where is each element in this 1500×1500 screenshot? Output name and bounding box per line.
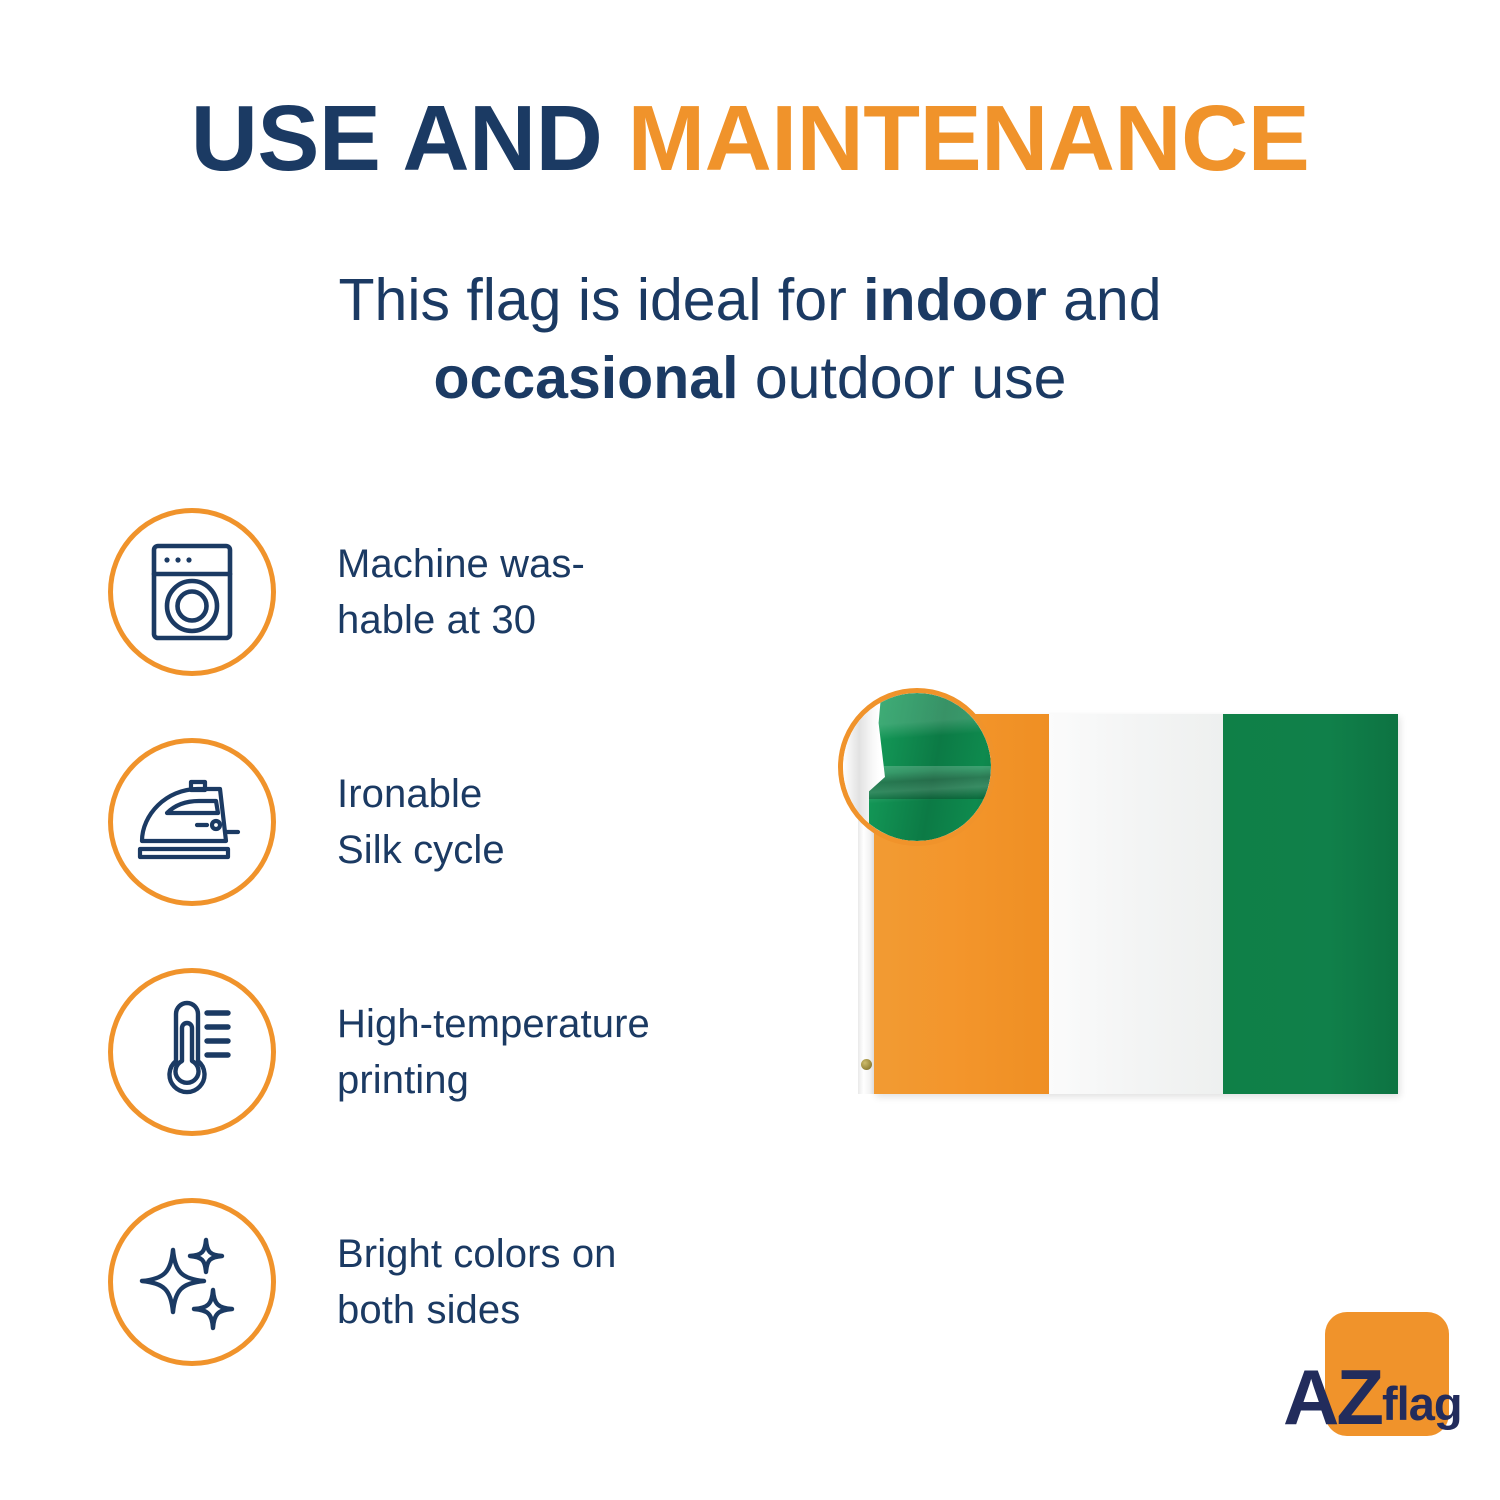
iron-icon xyxy=(136,779,248,865)
subtitle-line-1: This flag is ideal for indoor and xyxy=(0,262,1500,340)
page-title-part-one: USE AND xyxy=(191,86,628,190)
page-subtitle: This flag is ideal for indoor and occasi… xyxy=(0,262,1500,418)
brand-logo-text[interactable]: AZflag xyxy=(1283,1352,1462,1443)
flag-band-green xyxy=(1223,714,1398,1094)
feature-label: High-temperature printing xyxy=(337,996,650,1108)
feature-icon-badge-iron xyxy=(108,738,276,906)
subtitle-text-tail: outdoor use xyxy=(738,345,1066,411)
page-title: USE AND MAINTENANCE xyxy=(0,92,1500,185)
brand-logo-az: AZ xyxy=(1283,1353,1381,1441)
subtitle-emphasis-indoor: indoor xyxy=(863,267,1047,333)
subtitle-emphasis-occasional: occasional xyxy=(434,345,739,411)
magnifier-fabric-green xyxy=(869,693,991,841)
list-item: Machine was- hable at 30 xyxy=(108,508,808,738)
subtitle-text-lead: This flag is ideal for xyxy=(338,267,863,333)
thermometer-icon xyxy=(150,998,234,1106)
subtitle-text-and: and xyxy=(1047,267,1162,333)
list-item: Bright colors on both sides xyxy=(108,1198,808,1428)
feature-icon-badge-washing xyxy=(108,508,276,676)
brand-logo-word: flag xyxy=(1382,1377,1462,1430)
header: USE AND MAINTENANCE xyxy=(0,92,1500,185)
washing-machine-icon xyxy=(146,540,238,644)
list-item: High-temperature printing xyxy=(108,968,808,1198)
feature-label: Ironable Silk cycle xyxy=(337,766,505,878)
infographic-page: USE AND MAINTENANCE This flag is ideal f… xyxy=(0,0,1500,1500)
magnifier-content xyxy=(843,693,991,841)
subtitle-line-2: occasional outdoor use xyxy=(0,340,1500,418)
flag-band-white xyxy=(1049,714,1224,1094)
list-item: Ironable Silk cycle xyxy=(108,738,808,968)
page-title-part-two: MAINTENANCE xyxy=(628,86,1310,190)
feature-label: Machine was- hable at 30 xyxy=(337,536,585,648)
sparkles-icon xyxy=(138,1228,246,1336)
feature-label: Bright colors on both sides xyxy=(337,1226,617,1338)
feature-icon-badge-sparkles xyxy=(108,1198,276,1366)
feature-icon-badge-thermometer xyxy=(108,968,276,1136)
flag-grommet xyxy=(861,1059,872,1070)
fabric-detail-magnifier xyxy=(838,688,996,846)
feature-list: Machine was- hable at 30 Ironable xyxy=(108,508,808,1428)
